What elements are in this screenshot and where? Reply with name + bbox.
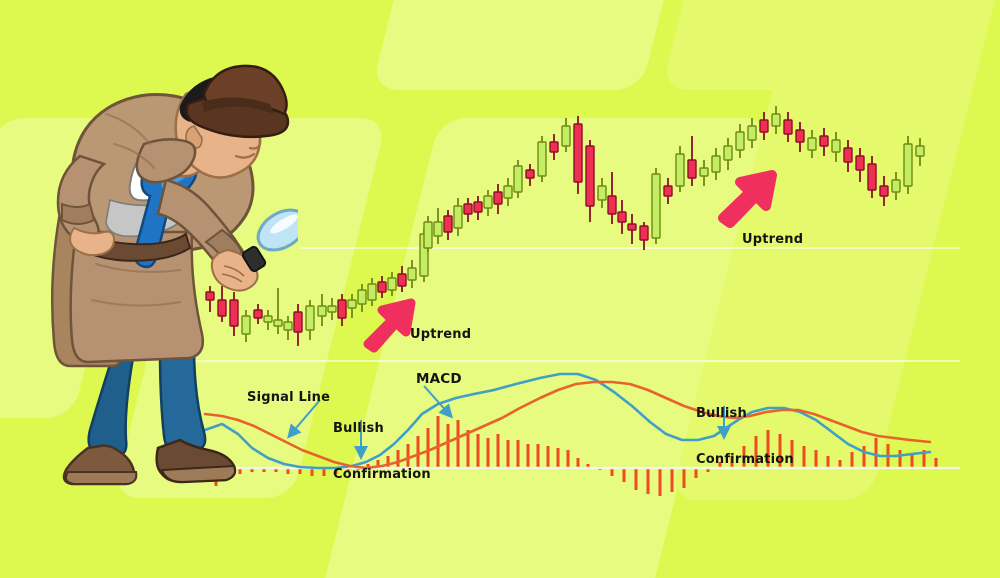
bullish-confirmation-right-line1: Bullish [696,406,794,421]
uptrend-label-upper: Uptrend [742,232,803,247]
bullish-confirmation-left-line1: Bullish [333,421,431,436]
uptrend-label-lower: Uptrend [410,327,471,342]
bullish-confirmation-label-left: Bullish Confirmation [333,390,431,513]
leg-front [160,346,205,452]
bullish-confirmation-label-right: Bullish Confirmation [696,375,794,498]
illustration-canvas: Uptrend Uptrend Signal Line Bullish Conf… [0,0,1000,578]
detective-with-magnifier [18,52,298,492]
shoe-back-sole [66,472,136,484]
shoe-front-sole [162,466,235,482]
macd-label: MACD [416,372,462,388]
leg-back [89,352,134,456]
cuff-back [62,204,94,224]
bullish-confirmation-right-line2: Confirmation [696,452,794,467]
bullish-confirmation-left-line2: Confirmation [333,467,431,482]
